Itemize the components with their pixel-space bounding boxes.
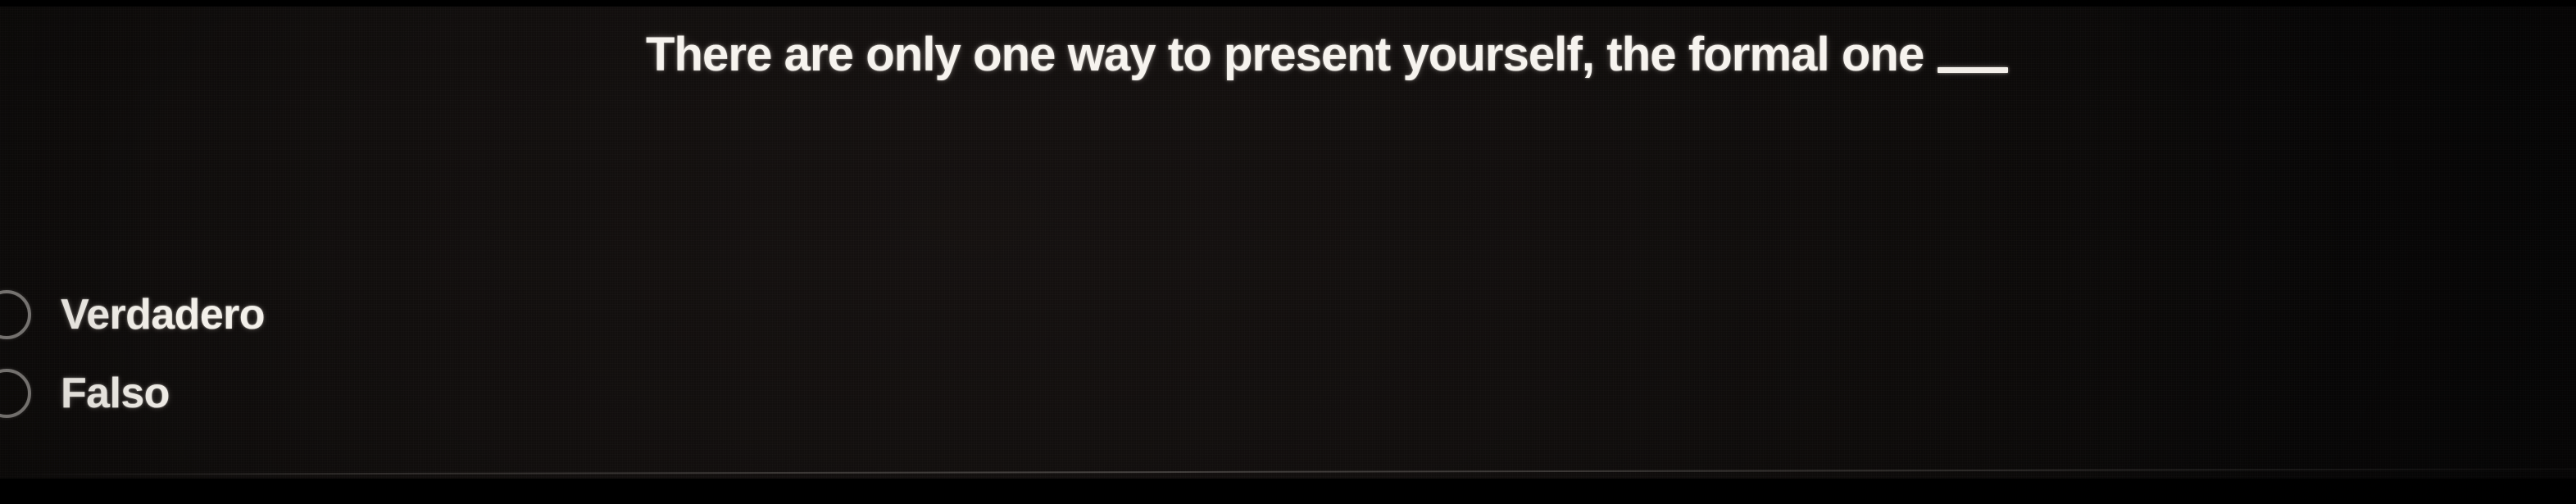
top-bezel-band <box>0 0 2576 7</box>
answer-option-label: Verdadero <box>61 293 265 336</box>
answer-options-list: Verdadero Falso <box>0 275 738 433</box>
answer-option-falso[interactable]: Falso <box>0 354 738 433</box>
radio-unchecked-icon[interactable] <box>0 369 31 418</box>
quiz-screen-photo: There are only one way to present yourse… <box>0 0 2576 504</box>
answer-option-label: Falso <box>61 372 170 415</box>
question-text: There are only one way to present yourse… <box>646 31 1924 79</box>
bottom-bezel-band <box>0 479 2576 504</box>
question-container: There are only one way to present yourse… <box>646 31 2008 79</box>
answer-option-verdadero[interactable]: Verdadero <box>0 275 738 354</box>
radio-unchecked-icon[interactable] <box>0 290 31 339</box>
question-blank-underline <box>1938 67 2008 73</box>
